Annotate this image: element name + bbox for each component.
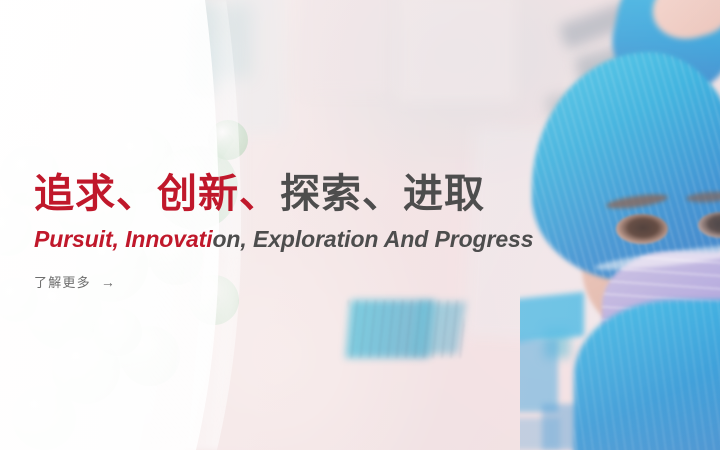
hero-content: 追求、创新、探索、进取 Pursuit, Innovation, Explora… — [0, 0, 720, 450]
headline-accent-part: 追求、创新、 — [34, 172, 280, 216]
subtitle-muted-part: on, Exploration And Progress — [212, 226, 533, 252]
arrow-right-icon: → — [101, 275, 116, 289]
headline-muted-part: 探索、进取 — [280, 172, 485, 216]
learn-more-label: 了解更多 — [34, 272, 91, 291]
page-title: 追求、创新、探索、进取 — [34, 172, 485, 217]
page-subtitle: Pursuit, Innovation, Exploration And Pro… — [34, 226, 533, 253]
hero-banner: 追求、创新、探索、进取 Pursuit, Innovation, Explora… — [0, 0, 720, 450]
learn-more-link[interactable]: 了解更多 → — [34, 272, 116, 291]
subtitle-accent-part: Pursuit, Innovati — [34, 226, 212, 252]
